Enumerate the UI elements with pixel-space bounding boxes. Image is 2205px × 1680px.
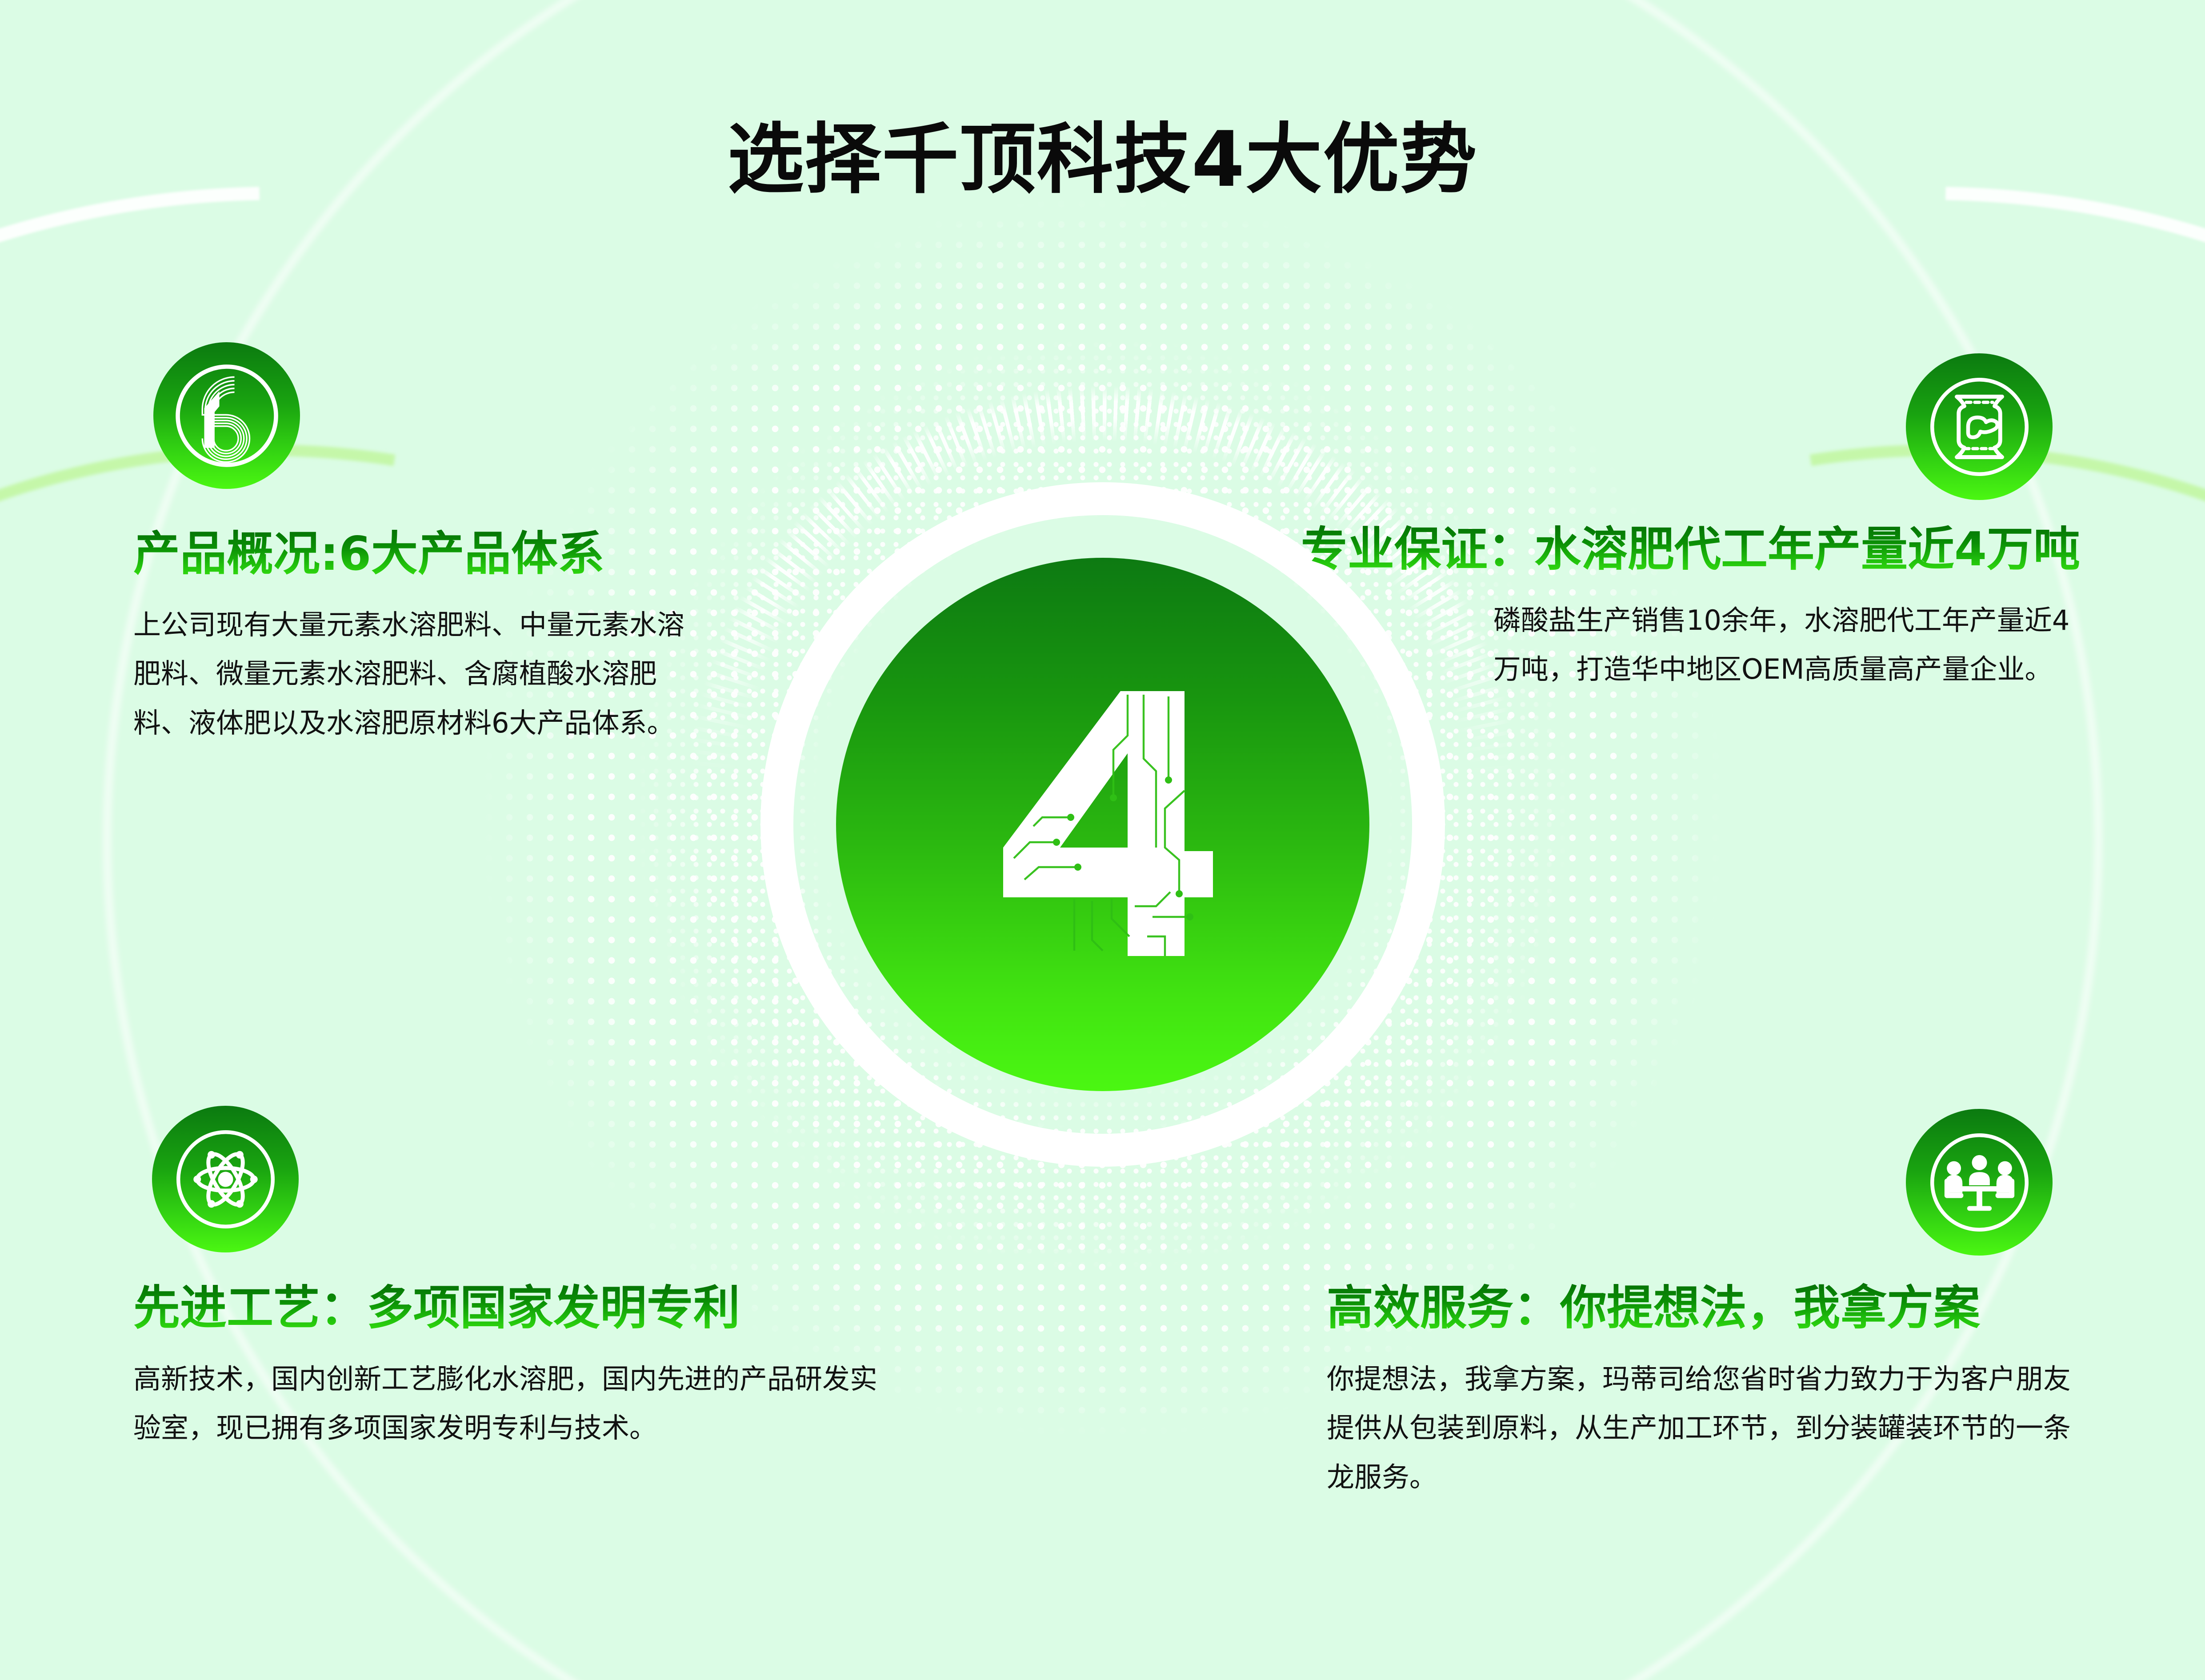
advantage-heading: 专业保证：水溶肥代工年产量近4万吨 bbox=[1191, 522, 2080, 577]
advantage-body: 磷酸盐生产销售10余年，水溶肥代工年产量近4万吨，打造华中地区OEM高质量高产量… bbox=[1493, 596, 2080, 694]
atom-icon bbox=[169, 1123, 282, 1236]
advantage-block-top-left: 产品概况:6大产品体系 上公司现有大量元素水溶肥料、中量元素水溶肥料、微量元素水… bbox=[133, 527, 698, 748]
advantage-body: 上公司现有大量元素水溶肥料、中量元素水溶肥料、微量元素水溶肥料、含腐植酸水溶肥料… bbox=[133, 600, 698, 748]
advantage-block-top-right: 专业保证：水溶肥代工年产量近4万吨 磷酸盐生产销售10余年，水溶肥代工年产量近4… bbox=[1191, 522, 2080, 694]
advantage-heading: 高效服务：你提想法，我拿方案 bbox=[1327, 1281, 2082, 1336]
advantage-block-bottom-right: 高效服务：你提想法，我拿方案 你提想法，我拿方案，玛蒂司给您省时省力致力于为客户… bbox=[1327, 1281, 2082, 1502]
number-six-circle-icon bbox=[170, 359, 284, 472]
advantage-icon-advanced-process bbox=[152, 1106, 299, 1252]
advantage-icon-efficient-service bbox=[1906, 1109, 2053, 1256]
page-title: 选择千顶科技4大优势 bbox=[0, 97, 2205, 208]
advantage-block-bottom-left: 先进工艺：多项国家发明专利 高新技术，国内创新工艺膨化水溶肥，国内先进的产品研发… bbox=[133, 1281, 898, 1453]
circuit-four-icon bbox=[978, 673, 1227, 976]
advantage-body: 高新技术，国内创新工艺膨化水溶肥，国内先进的产品研发实验室，现已拥有多项国家发明… bbox=[133, 1355, 898, 1453]
advantage-icon-production-capacity bbox=[1906, 353, 2053, 500]
advantage-icon-product-overview bbox=[153, 342, 300, 489]
fertilizer-bag-icon bbox=[1923, 370, 2036, 484]
advantage-heading: 先进工艺：多项国家发明专利 bbox=[133, 1281, 898, 1336]
meeting-people-icon bbox=[1923, 1126, 2036, 1239]
advantage-body: 你提想法，我拿方案，玛蒂司给您省时省力致力于为客户朋友提供从包装到原料，从生产加… bbox=[1327, 1355, 2082, 1502]
advantage-heading: 产品概况:6大产品体系 bbox=[133, 527, 698, 582]
